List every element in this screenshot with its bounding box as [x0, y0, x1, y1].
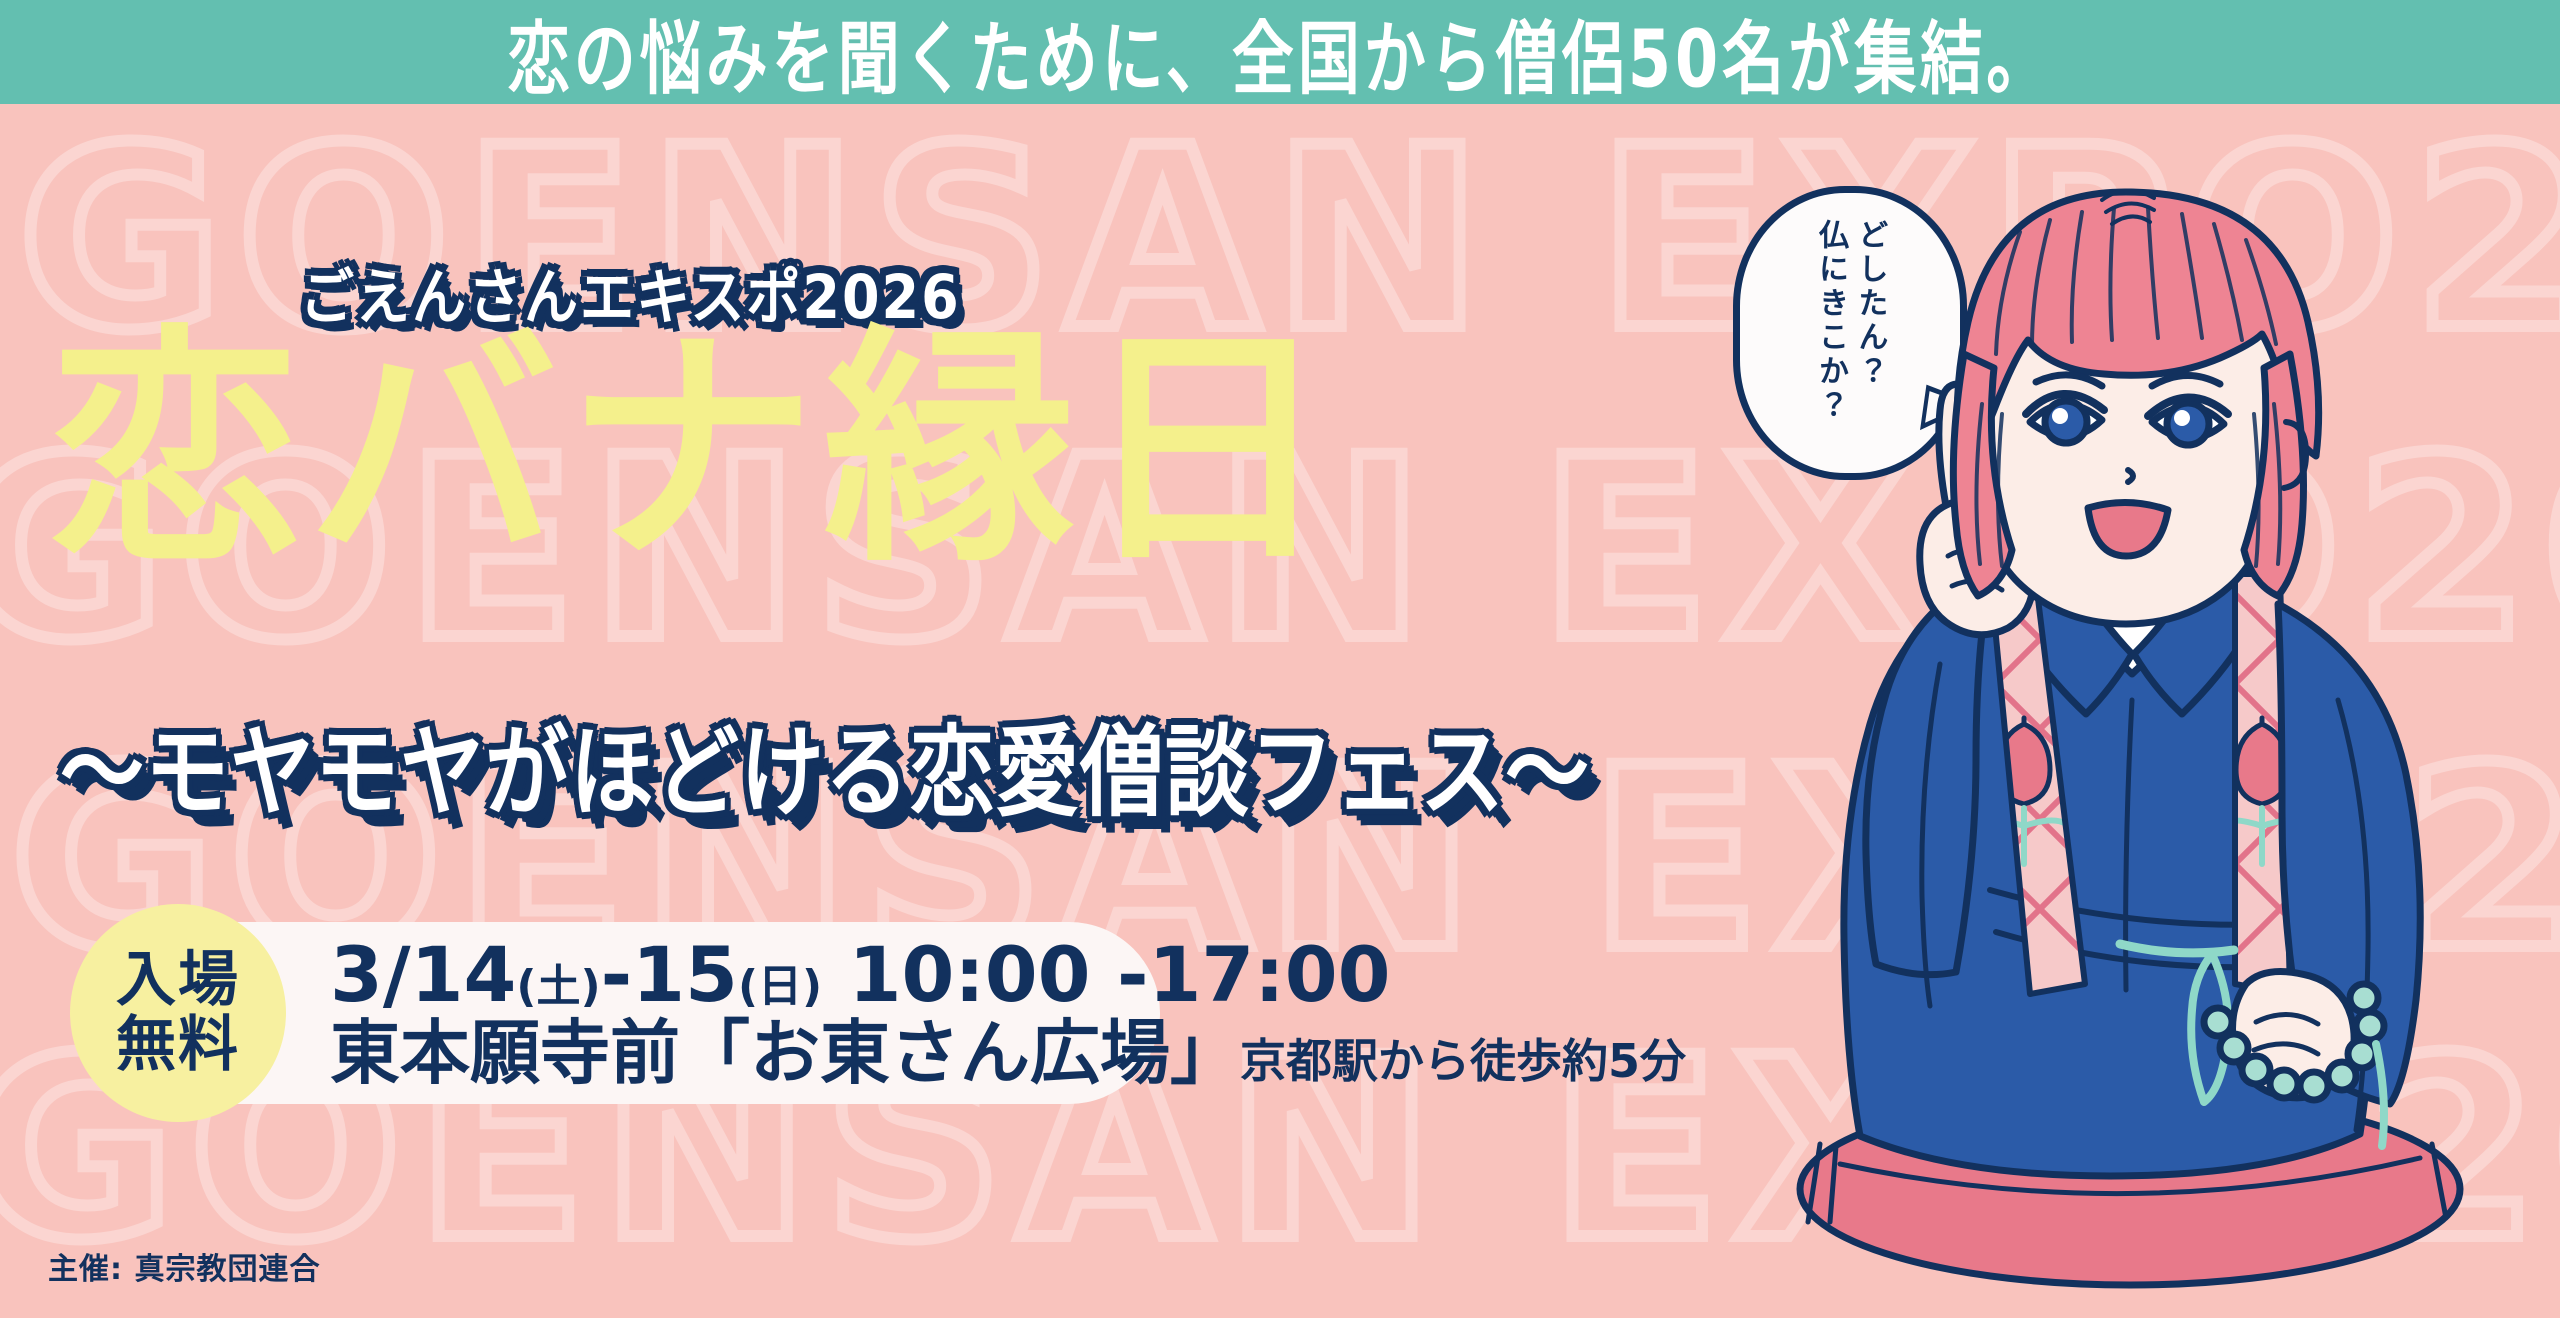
date-end: -15 [601, 930, 738, 1019]
organizer-credit: 主催: 真宗教団連合 [48, 1244, 320, 1288]
event-venue-line: 東本願寺前「お東さん広場」京都駅から徒歩約5分 [330, 1014, 1686, 1092]
date-start-weekday: (土) [516, 961, 600, 1012]
badge-line-1: 入場 [116, 948, 240, 1013]
main-content: ごえんさんエキスポ2026 恋バナ縁日 〜モヤモヤがほどける恋愛僧談フェス〜 3… [0, 104, 1760, 1318]
date-start: 3/14 [330, 930, 516, 1019]
top-banner: 恋の悩みを聞くために、全国から僧侶50名が集結。 [0, 0, 2560, 104]
monk-woman-illustration [1690, 104, 2560, 1318]
event-datetime-line: 3/14(土)-15(日) 10:00 -17:00 [330, 934, 1686, 1016]
page-title: 恋バナ縁日 [50, 319, 1340, 582]
poster-canvas: GOENSAN EXPO2026 GOENSAN EXPO2026 GOENSA… [0, 0, 2560, 1318]
venue-name: 東本願寺前「お東さん広場」 [330, 1012, 1240, 1094]
date-end-weekday: (日) [738, 961, 822, 1012]
badge-line-2: 無料 [116, 1013, 240, 1078]
event-time: 10:00 -17:00 [849, 930, 1391, 1019]
top-banner-text: 恋の悩みを聞くために、全国から僧侶50名が集結。 [508, 0, 2052, 110]
venue-access: 京都駅から徒歩約5分 [1240, 1034, 1686, 1088]
event-info-lines: 3/14(土)-15(日) 10:00 -17:00 東本願寺前「お東さん広場」… [330, 934, 1686, 1092]
event-tagline: 〜モヤモヤがほどける恋愛僧談フェス〜 [60, 693, 1590, 836]
free-admission-badge: 入場 無料 [70, 904, 286, 1122]
